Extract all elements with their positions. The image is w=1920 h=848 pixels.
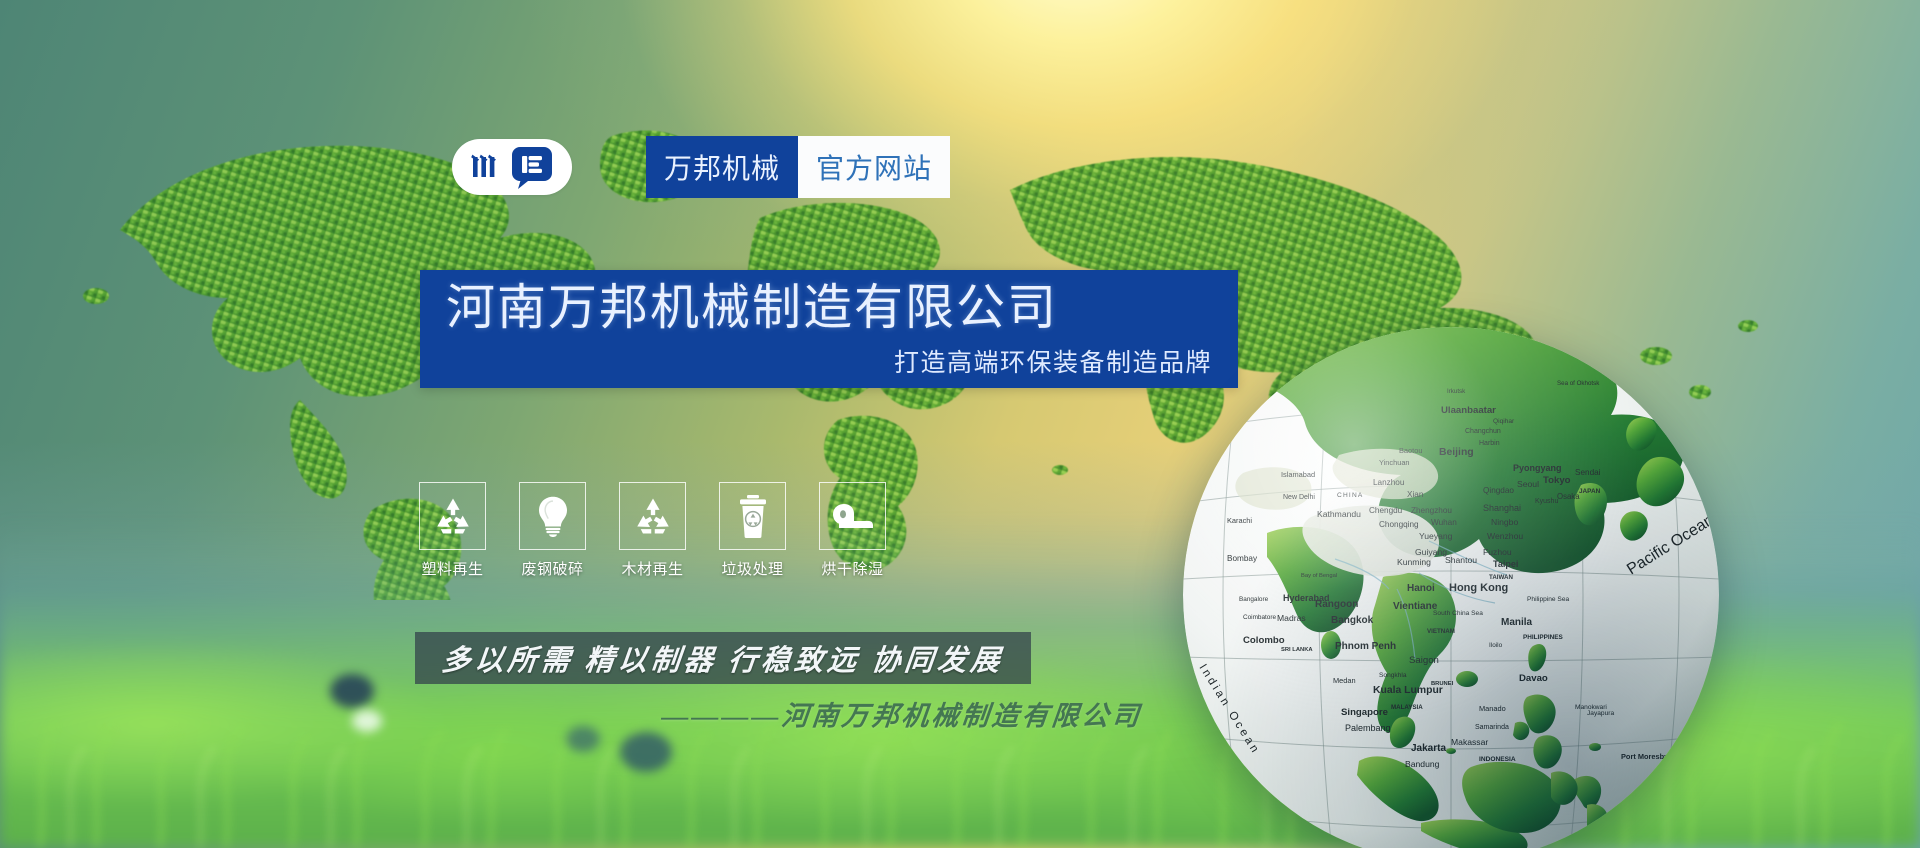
globe-label-city: Yinchuan xyxy=(1379,458,1410,467)
globe-label-city: Baotou xyxy=(1399,446,1422,455)
globe-label-city: Manado xyxy=(1479,704,1506,713)
feature-icon-box xyxy=(519,482,586,550)
feature-item-drying-dehumidifying[interactable]: 烘干除湿 xyxy=(820,482,885,579)
grass-bokeh-dark xyxy=(330,674,374,708)
feature-label: 塑料再生 xyxy=(421,558,483,579)
feature-label: 烘干除湿 xyxy=(821,558,883,579)
globe-label-city: Bangalore xyxy=(1239,596,1269,603)
globe-label-city: Sendai xyxy=(1575,468,1601,477)
b-speech-bubble-icon xyxy=(509,144,555,190)
globe-label-city: Vientiane xyxy=(1393,601,1438,612)
globe-label-city: Qingdao xyxy=(1483,486,1514,495)
feature-item-steel-crushing[interactable]: 废钢破碎 xyxy=(520,482,585,579)
recycle-icon xyxy=(432,495,474,537)
globe-label-city: Bandung xyxy=(1405,759,1440,769)
feature-item-plastic-recycling[interactable]: 塑料再生 xyxy=(420,482,485,579)
grass-bokeh-blue xyxy=(620,732,672,772)
globe-label-city: Xian xyxy=(1407,490,1424,499)
lightbulb-icon xyxy=(533,495,573,537)
feature-icon-box xyxy=(619,482,686,550)
globe-label-city: Irkutsk xyxy=(1447,388,1466,395)
feature-item-wood-recycling[interactable]: 木材再生 xyxy=(620,482,685,579)
globe-label-country: VIETNAM xyxy=(1427,628,1455,635)
globe-label-country: CHINA xyxy=(1337,492,1364,499)
globe-label-city: Rangoon xyxy=(1315,599,1358,610)
feature-icon-box xyxy=(719,482,786,550)
globe-label-city: Seoul xyxy=(1517,479,1539,489)
globe-label-city: Medan xyxy=(1333,676,1356,685)
globe-label-city: Hong Kong xyxy=(1449,582,1508,594)
feature-label: 木材再生 xyxy=(621,558,683,579)
globe-label-city: Shantou xyxy=(1445,555,1477,565)
globe-label-sea: Bay of Bengal xyxy=(1301,573,1337,579)
globe-label-city: Ningbo xyxy=(1491,517,1518,527)
feature-icon-box xyxy=(819,482,886,550)
page-title: 河南万邦机械制造有限公司 xyxy=(420,284,1238,333)
globe-label-city: Beijing xyxy=(1439,447,1474,458)
globe-label-city: Zhengzhou xyxy=(1411,506,1452,515)
page-subtitle: 打造高端环保装备制造品牌 xyxy=(420,351,1238,376)
globe-label-city: Changchun xyxy=(1465,428,1501,435)
hero-title-banner: 河南万邦机械制造有限公司 打造高端环保装备制造品牌 xyxy=(420,270,1238,388)
grass-bokeh-blue-2 xyxy=(566,726,600,752)
slogan-text: 多以所需 精以制器 行稳致远 协同发展 xyxy=(440,637,1006,679)
globe-label-country: INDONESIA xyxy=(1479,756,1516,763)
globe-label-city: Shanghai xyxy=(1483,503,1521,513)
globe-label-city: Colombo xyxy=(1243,635,1285,646)
globe-label-sea: South China Sea xyxy=(1433,610,1483,617)
globe-label-city: Chongqing xyxy=(1379,520,1419,529)
wanbang-logo[interactable] xyxy=(452,139,572,195)
globe-label-city: Pyongyang xyxy=(1513,463,1562,473)
globe-label-city: Port Moresby xyxy=(1621,752,1669,761)
globe-label-city: Fuzhou xyxy=(1483,547,1512,557)
globe-label-city: Madras xyxy=(1277,613,1306,623)
asia-pacific-globe: Ulaanbaatar Beijing Baotou Changchun Har… xyxy=(1183,327,1719,848)
globe-label-city: Jakarta xyxy=(1411,743,1446,754)
globe-label-city: New Delhi xyxy=(1283,494,1315,501)
globe-label-city: Singapore xyxy=(1341,707,1388,718)
globe-label-country: PHILIPPINES xyxy=(1523,634,1564,641)
globe-label-country: MALAYSIA xyxy=(1391,704,1423,711)
globe-label-city: Lanzhou xyxy=(1373,478,1405,487)
globe-label-city: Yueyang xyxy=(1419,531,1453,541)
globe-label-city: Bangkok xyxy=(1331,615,1374,626)
globe-label-city: Kathmandu xyxy=(1317,509,1361,519)
globe-label-city: Iloilo xyxy=(1489,642,1503,649)
trash-bin-icon xyxy=(736,494,770,538)
globe-label-city: Coimbatore xyxy=(1243,614,1276,621)
globe-label-city: Wuhan xyxy=(1431,518,1457,527)
globe-label-city: Islamabad xyxy=(1281,470,1315,479)
globe-label-city: Manokwari xyxy=(1575,704,1607,711)
globe-label-city: Davao xyxy=(1519,673,1548,684)
grass-bokeh-white xyxy=(352,710,382,732)
globe-label-country: TAIWAN xyxy=(1489,574,1513,581)
globe-label-city: Samarinda xyxy=(1475,724,1509,731)
recycle-icon xyxy=(632,495,674,537)
header-logo-row: 万邦机械 官方网站 xyxy=(452,136,950,198)
globe-label-city: Tokyo xyxy=(1543,475,1571,486)
globe-label-city: Kyushu xyxy=(1535,498,1558,505)
globe-label-city: Guiyang xyxy=(1415,547,1447,557)
globe-label-city: Makassar xyxy=(1451,737,1488,747)
globe-label-city: Harbin xyxy=(1479,440,1500,447)
slogan-attribution: ————河南万邦机械制造有限公司 xyxy=(660,694,1144,733)
feature-label: 废钢破碎 xyxy=(521,558,583,579)
globe-label-city: Wenzhou xyxy=(1487,531,1523,541)
globe-label-city: Hanoi xyxy=(1407,583,1435,594)
feature-label: 垃圾处理 xyxy=(721,558,783,579)
globe-label-city: Ulaanbaatar xyxy=(1441,405,1496,416)
globe-label-city: Osaka xyxy=(1557,492,1580,501)
feature-icon-box xyxy=(419,482,486,550)
globe-label-city: Kunming xyxy=(1397,557,1431,567)
w-mark-icon xyxy=(469,150,503,184)
dryer-blower-icon xyxy=(831,499,875,533)
globe-label-sea: Sea of Okhotsk xyxy=(1557,380,1600,387)
slogan-plate: 多以所需 精以制器 行稳致远 协同发展 xyxy=(415,632,1031,684)
globe-label-city: Qiqihar xyxy=(1493,418,1515,425)
globe-label-country: SRI LANKA xyxy=(1281,647,1313,653)
globe-label-city: Taipei xyxy=(1493,559,1518,569)
globe-label-sea: Philippine Sea xyxy=(1527,596,1569,603)
feature-icon-row: 塑料再生 废钢破碎 xyxy=(420,482,885,579)
globe-label-country: BRUNEI xyxy=(1431,681,1454,687)
hero-banner-page: 万邦机械 官方网站 河南万邦机械制造有限公司 打造高端环保装备制造品牌 xyxy=(0,0,1920,848)
globe-label-city: Chengdu xyxy=(1369,506,1403,515)
globe-label-city: Jayapura xyxy=(1587,710,1614,717)
globe-label-city: Songkhla xyxy=(1379,672,1407,679)
globe-label-city: Phnom Penh xyxy=(1335,641,1396,652)
globe-label-city: Palembang xyxy=(1345,723,1391,733)
tab-official-site[interactable]: 官方网站 xyxy=(798,136,950,198)
globe-label-city: Karachi xyxy=(1227,516,1252,525)
tab-brand[interactable]: 万邦机械 xyxy=(646,136,798,198)
globe-label-city: Manila xyxy=(1501,617,1533,628)
globe-label-city: Bombay xyxy=(1227,554,1258,563)
globe-label-city: Saigon xyxy=(1409,655,1439,666)
globe-label-country: JAPAN xyxy=(1579,488,1601,495)
brand-tab-group: 万邦机械 官方网站 xyxy=(646,136,950,198)
feature-item-waste-treatment[interactable]: 垃圾处理 xyxy=(720,482,785,579)
